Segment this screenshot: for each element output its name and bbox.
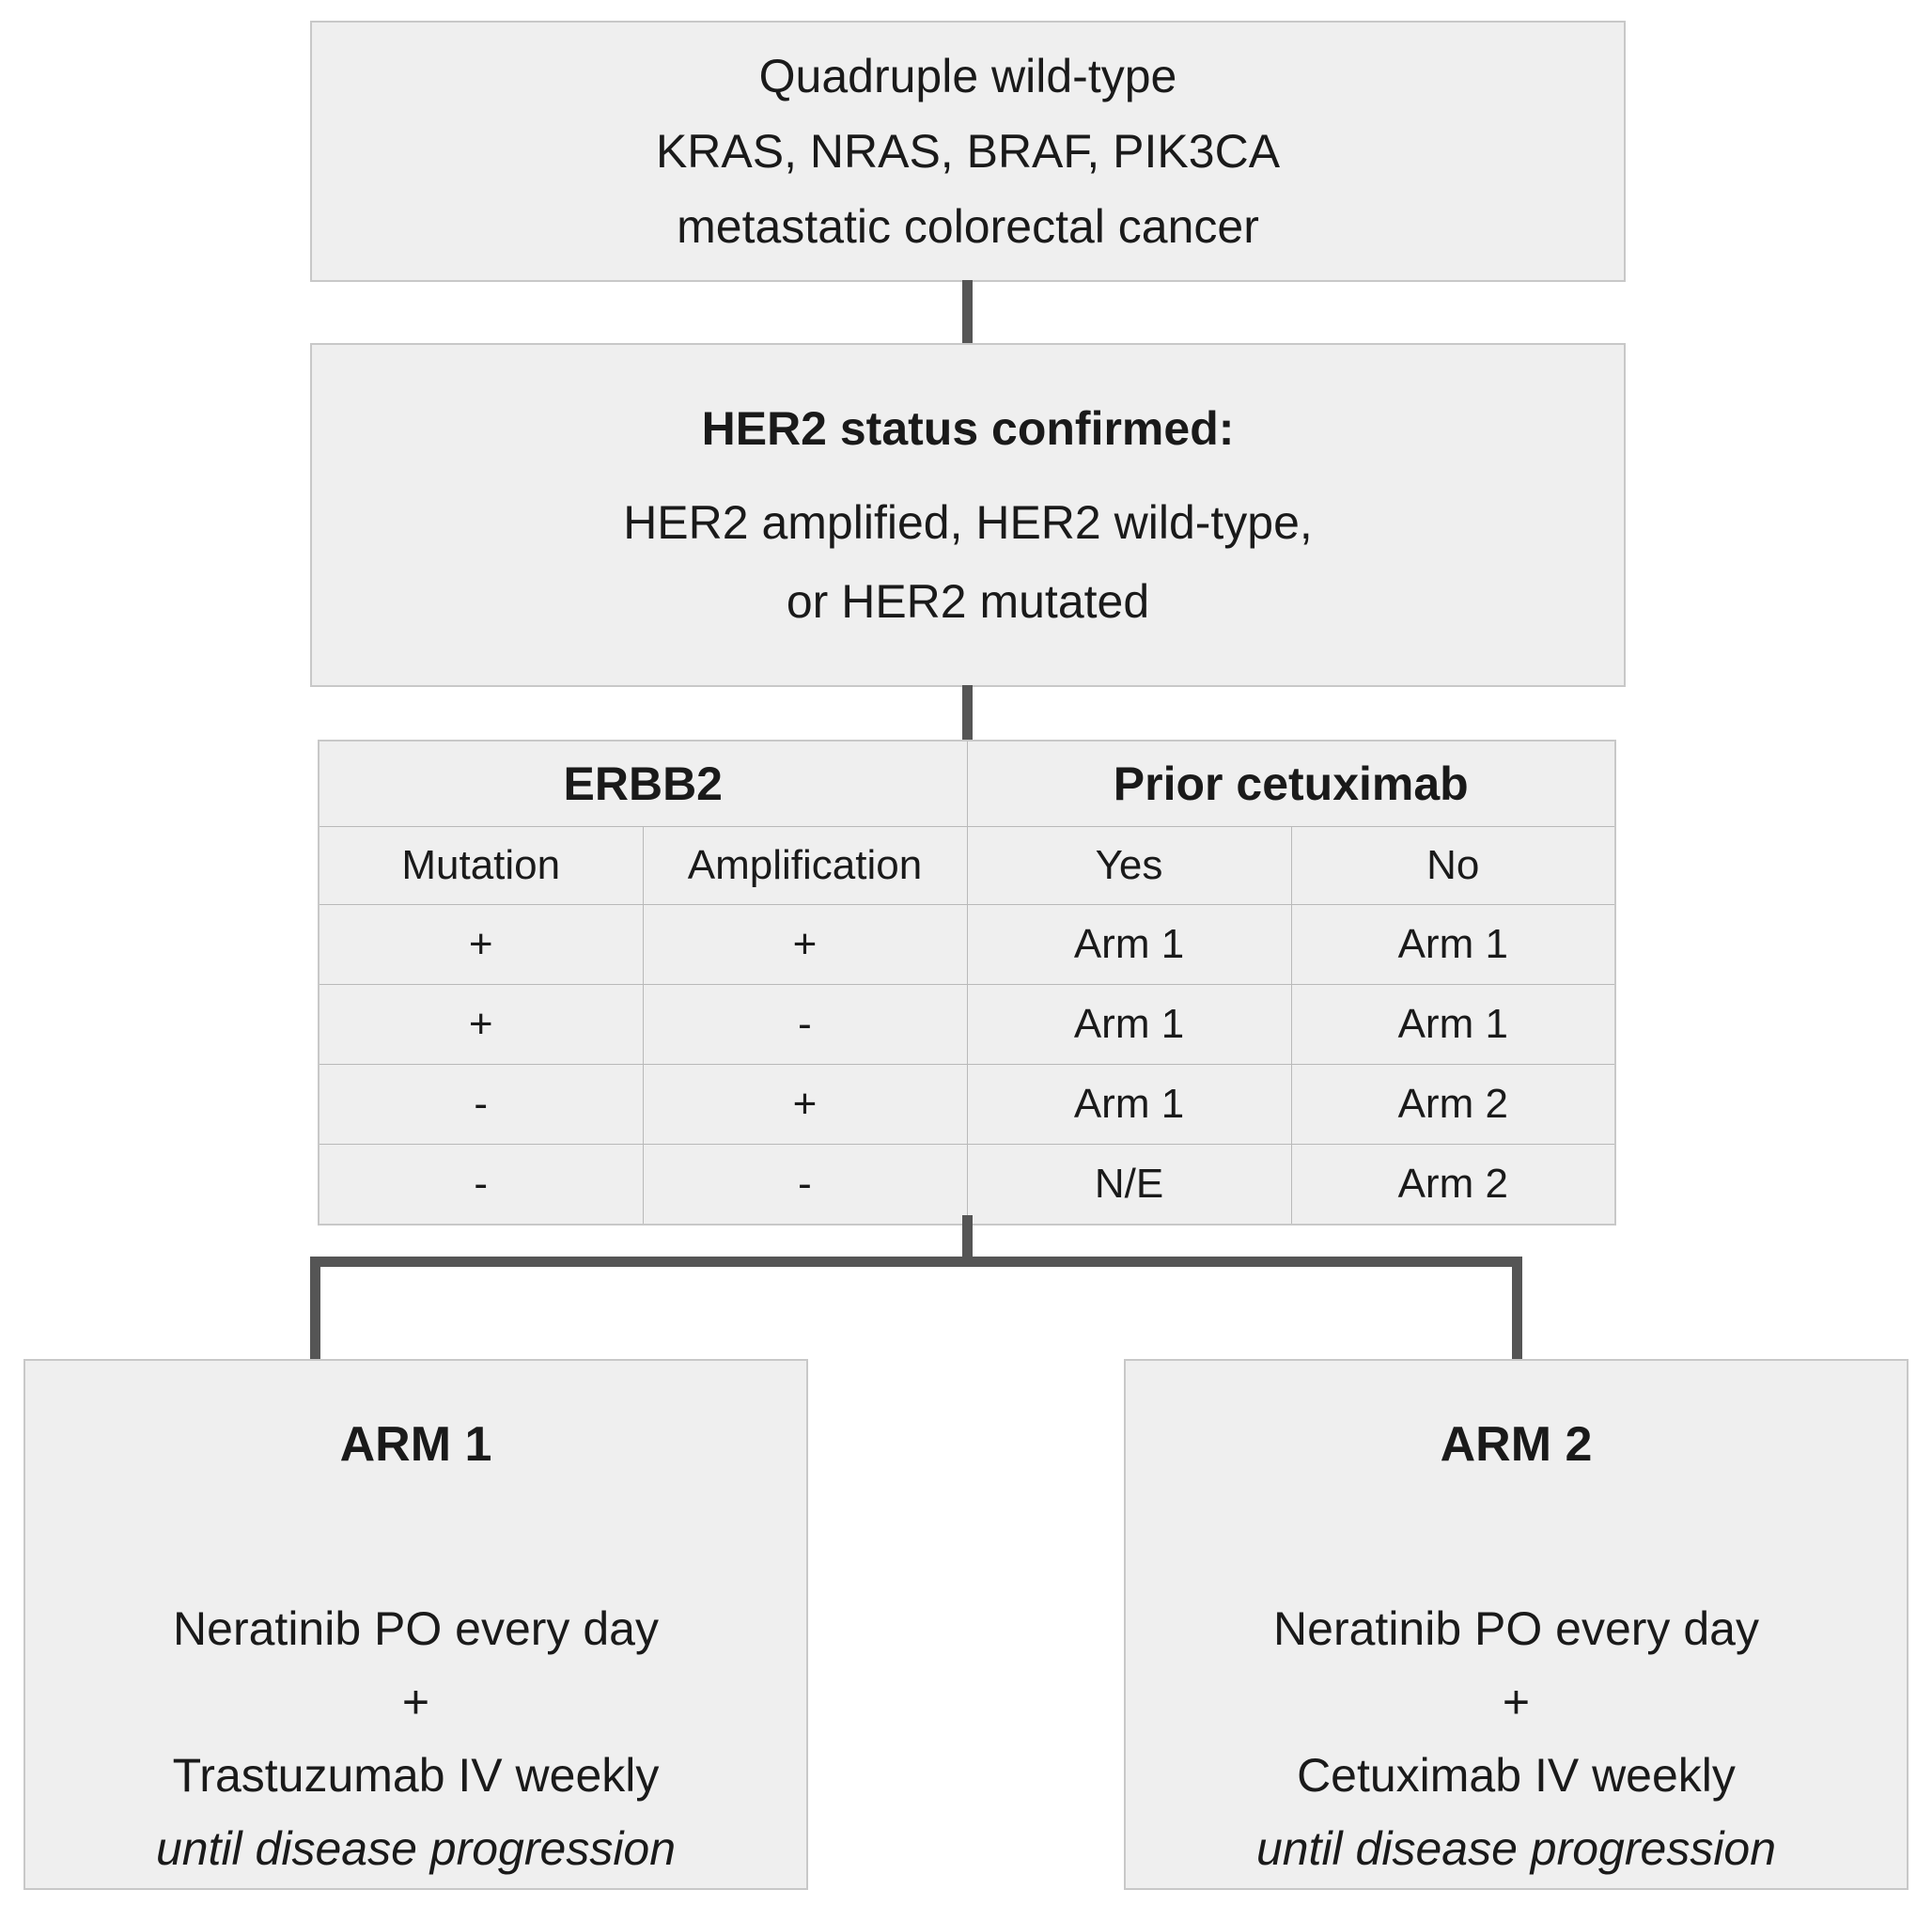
connector-table-to-branch bbox=[962, 1215, 973, 1262]
connector-branch-horizontal-bar bbox=[310, 1257, 1522, 1267]
population-box: Quadruple wild-type KRAS, NRAS, BRAF, PI… bbox=[310, 21, 1626, 282]
connector-branch-leg-arm2 bbox=[1512, 1257, 1522, 1362]
cell-mutation: - bbox=[319, 1145, 643, 1226]
column-header-no: No bbox=[1291, 827, 1615, 905]
cell-mutation: + bbox=[319, 905, 643, 985]
her2-status-box: HER2 status confirmed: HER2 amplified, H… bbox=[310, 343, 1626, 687]
group-header-erbb2: ERBB2 bbox=[319, 741, 967, 827]
cell-amplification: - bbox=[643, 985, 967, 1065]
cell-prior-cetuximab-yes: N/E bbox=[967, 1145, 1291, 1226]
group-header-prior-cetuximab: Prior cetuximab bbox=[967, 741, 1615, 827]
cell-amplification: + bbox=[643, 905, 967, 985]
table-row: - - N/E Arm 2 bbox=[319, 1145, 1615, 1226]
flowchart-canvas: Quadruple wild-type KRAS, NRAS, BRAF, PI… bbox=[0, 0, 1932, 1905]
cell-prior-cetuximab-no: Arm 1 bbox=[1291, 985, 1615, 1065]
arm2-drug-2: Cetuximab IV weekly bbox=[1126, 1739, 1907, 1812]
arm2-title: ARM 2 bbox=[1441, 1408, 1593, 1481]
cell-mutation: - bbox=[319, 1065, 643, 1145]
population-line-1: Quadruple wild-type bbox=[312, 39, 1624, 114]
cell-prior-cetuximab-no: Arm 1 bbox=[1291, 905, 1615, 985]
arm1-duration: until disease progression bbox=[25, 1812, 806, 1885]
cell-prior-cetuximab-no: Arm 2 bbox=[1291, 1145, 1615, 1226]
table-row: - + Arm 1 Arm 2 bbox=[319, 1065, 1615, 1145]
cell-prior-cetuximab-yes: Arm 1 bbox=[967, 1065, 1291, 1145]
connector-her2-to-table bbox=[962, 685, 973, 742]
cell-prior-cetuximab-yes: Arm 1 bbox=[967, 905, 1291, 985]
arm1-title: ARM 1 bbox=[340, 1408, 492, 1481]
arm1-plus-sign: + bbox=[25, 1665, 806, 1739]
connector-population-to-her2 bbox=[962, 280, 973, 346]
her2-status-title: HER2 status confirmed: bbox=[312, 389, 1624, 468]
table-row: + - Arm 1 Arm 1 bbox=[319, 985, 1615, 1065]
cell-prior-cetuximab-yes: Arm 1 bbox=[967, 985, 1291, 1065]
population-line-3: metastatic colorectal cancer bbox=[312, 189, 1624, 264]
arm1-box: ARM 1 Neratinib PO every day + Trastuzum… bbox=[23, 1359, 808, 1890]
her2-status-line-1: HER2 amplified, HER2 wild-type, bbox=[312, 483, 1624, 562]
her2-status-line-2: or HER2 mutated bbox=[312, 562, 1624, 641]
column-header-yes: Yes bbox=[967, 827, 1291, 905]
arm1-drug-2: Trastuzumab IV weekly bbox=[25, 1739, 806, 1812]
table-group-header-row: ERBB2 Prior cetuximab bbox=[319, 741, 1615, 827]
arm2-plus-sign: + bbox=[1126, 1665, 1907, 1739]
cell-amplification: + bbox=[643, 1065, 967, 1145]
cell-mutation: + bbox=[319, 985, 643, 1065]
cell-prior-cetuximab-no: Arm 2 bbox=[1291, 1065, 1615, 1145]
population-line-2: KRAS, NRAS, BRAF, PIK3CA bbox=[312, 114, 1624, 189]
arm-assignment-table: ERBB2 Prior cetuximab Mutation Amplifica… bbox=[318, 740, 1616, 1226]
arm2-drug-1: Neratinib PO every day bbox=[1126, 1592, 1907, 1665]
column-header-mutation: Mutation bbox=[319, 827, 643, 905]
table-row: + + Arm 1 Arm 1 bbox=[319, 905, 1615, 985]
column-header-amplification: Amplification bbox=[643, 827, 967, 905]
cell-amplification: - bbox=[643, 1145, 967, 1226]
table-column-header-row: Mutation Amplification Yes No bbox=[319, 827, 1615, 905]
arm2-box: ARM 2 Neratinib PO every day + Cetuximab… bbox=[1124, 1359, 1909, 1890]
connector-branch-leg-arm1 bbox=[310, 1257, 320, 1362]
arm1-drug-1: Neratinib PO every day bbox=[25, 1592, 806, 1665]
arm2-duration: until disease progression bbox=[1126, 1812, 1907, 1885]
